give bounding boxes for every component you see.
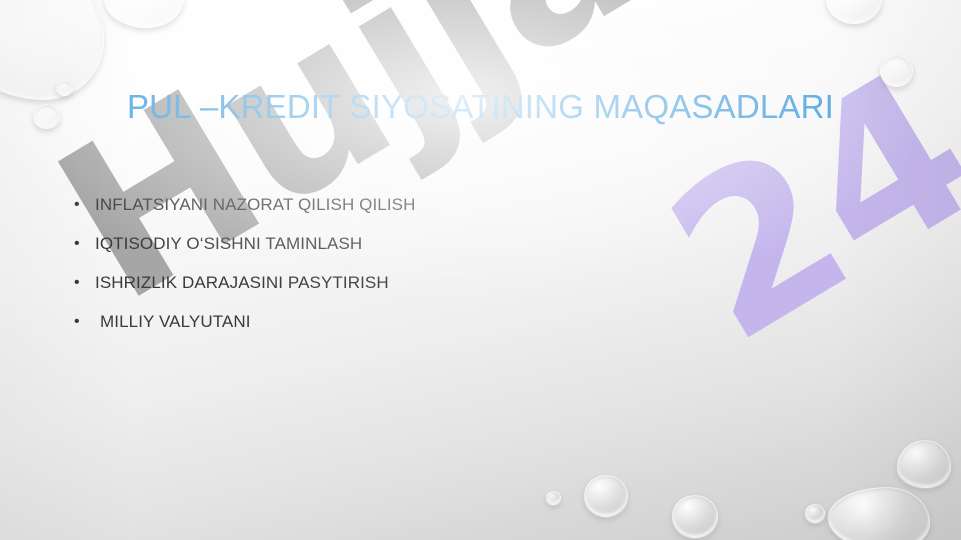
water-droplet-icon bbox=[584, 475, 628, 517]
water-droplet-icon bbox=[880, 55, 913, 87]
water-droplet-icon bbox=[546, 491, 561, 505]
bullet-list: • INFLATSIYANI NAZORAT QILISH QILISH • I… bbox=[74, 194, 714, 350]
list-item-label: MILLIY VALYUTANI bbox=[95, 311, 251, 332]
water-droplet-icon bbox=[897, 440, 951, 488]
list-item-label: INFLATSIYANI NAZORAT QILISH QILISH bbox=[95, 194, 415, 215]
water-droplet-icon bbox=[672, 495, 718, 538]
list-item-label: ISHRIZLIK DARAJASINI PASYTIRISH bbox=[95, 272, 389, 293]
water-droplet-icon bbox=[805, 504, 825, 523]
bullet-marker-icon: • bbox=[74, 272, 95, 293]
bullet-marker-icon: • bbox=[74, 194, 95, 215]
slide-title: PUL –KREDIT SIYOSATINING MAQASADLARI bbox=[0, 88, 961, 126]
water-droplet-icon bbox=[0, 0, 104, 100]
list-item: • MILLIY VALYUTANI bbox=[74, 311, 714, 350]
bullet-marker-icon: • bbox=[74, 311, 95, 332]
list-item: • ISHRIZLIK DARAJASINI PASYTIRISH bbox=[74, 272, 714, 311]
slide-canvas: Hujjat 24 PUL –KREDIT SIYOSATINING MAQAS… bbox=[0, 0, 961, 540]
water-droplet-icon bbox=[104, 0, 184, 28]
list-item: • INFLATSIYANI NAZORAT QILISH QILISH bbox=[74, 194, 714, 233]
list-item: • IQTISODIY O‘SISHNI TAMINLASH bbox=[74, 233, 714, 272]
water-droplet-icon bbox=[826, 0, 882, 24]
water-droplet-icon bbox=[828, 487, 930, 540]
bullet-marker-icon: • bbox=[74, 233, 95, 254]
list-item-label: IQTISODIY O‘SISHNI TAMINLASH bbox=[95, 233, 362, 254]
